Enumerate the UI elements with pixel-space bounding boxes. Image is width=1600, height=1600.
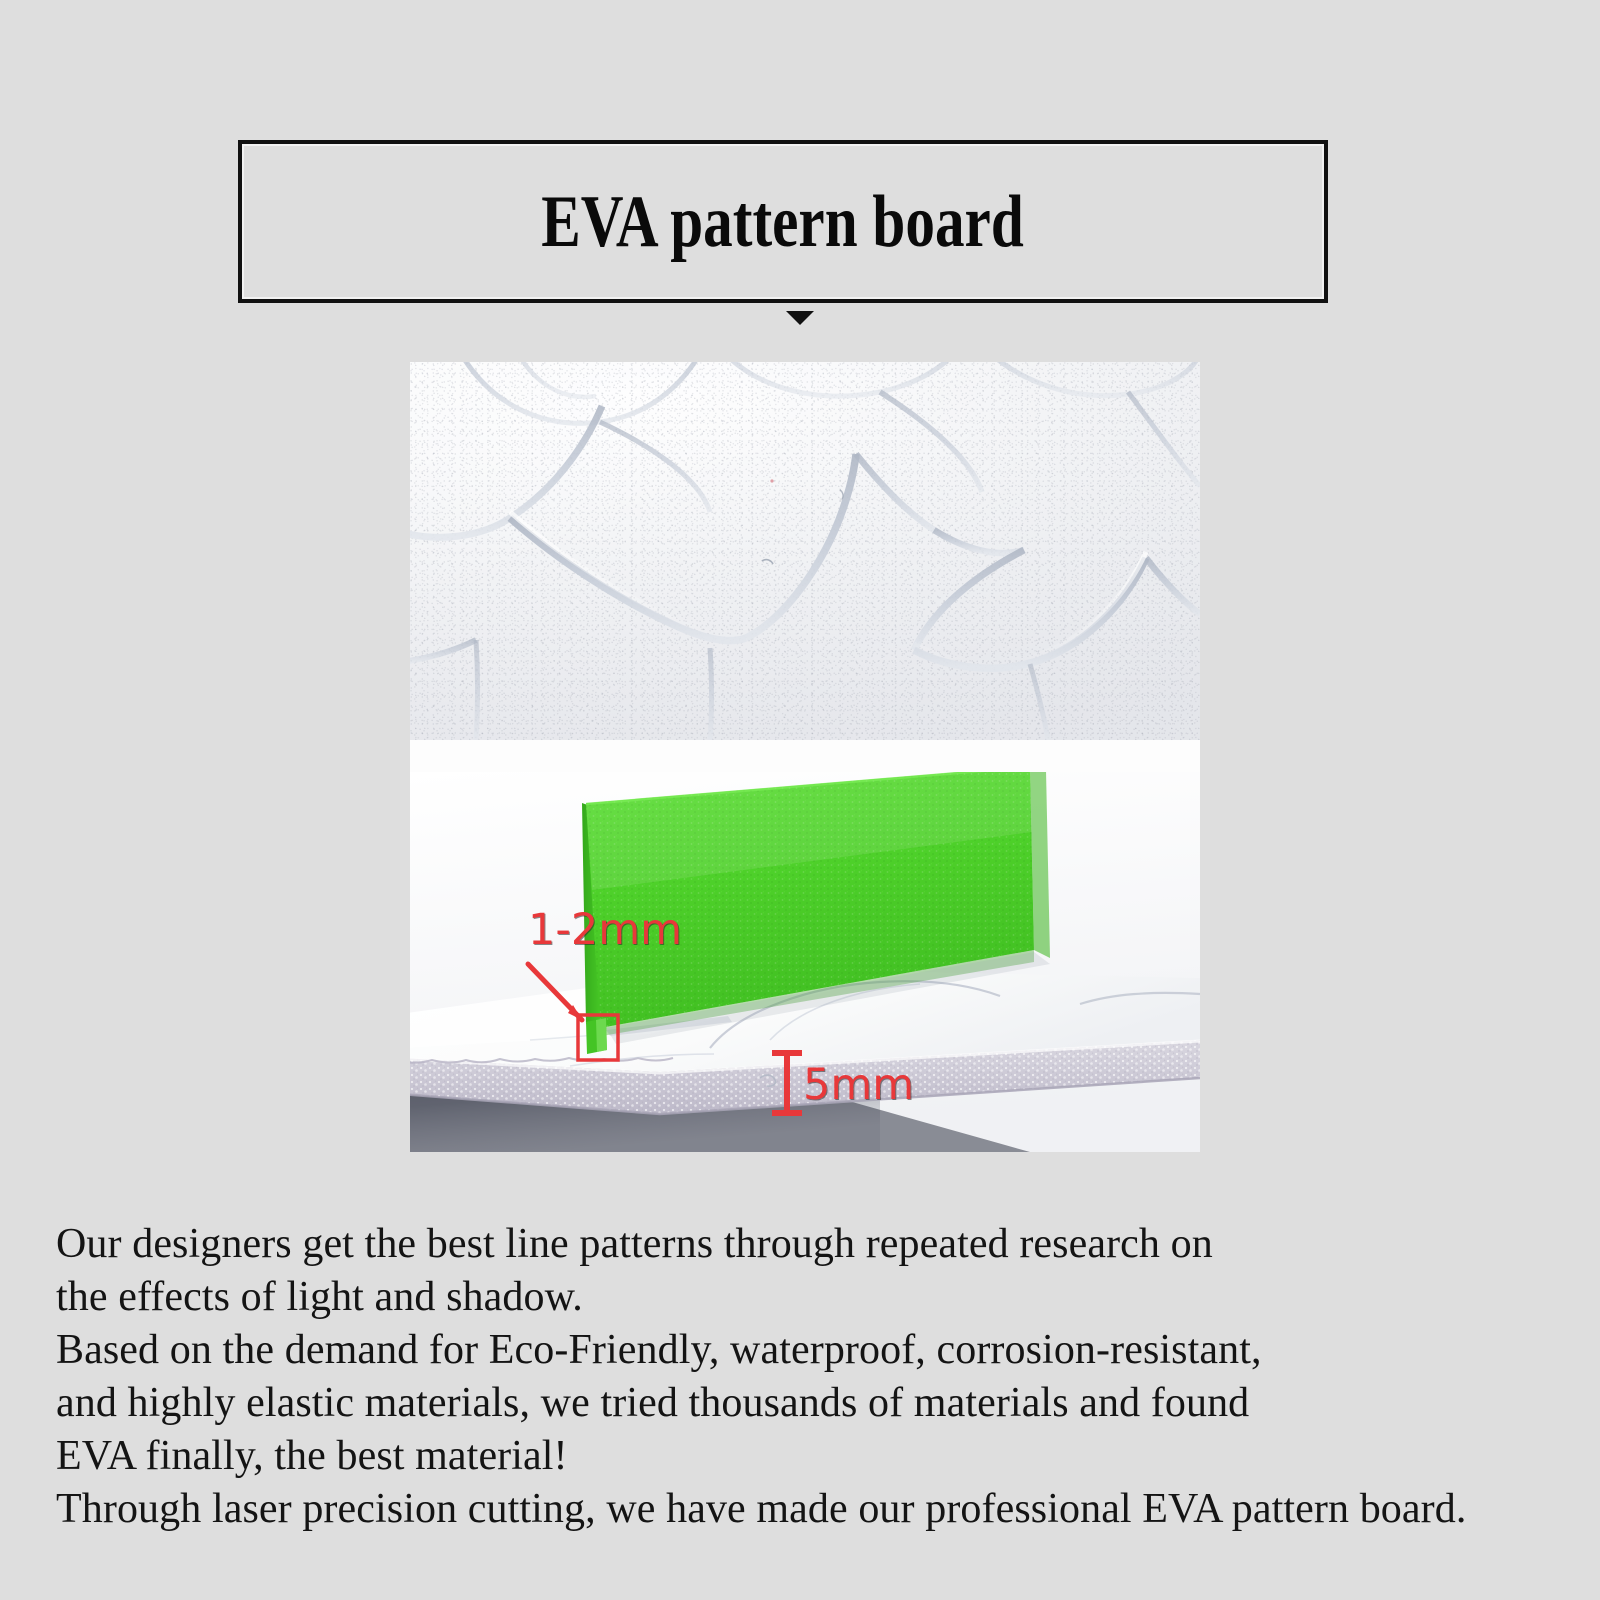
description-line: and highly elastic materials, we tried t… xyxy=(56,1377,1556,1430)
product-description: Our designers get the best line patterns… xyxy=(56,1218,1556,1536)
description-line: EVA finally, the best material! xyxy=(56,1430,1556,1483)
title-banner: EVA pattern board xyxy=(238,140,1328,303)
board-thickness-label: 5mm xyxy=(803,1064,914,1107)
eva-pattern-closeup-image xyxy=(410,362,1200,740)
description-line: Through laser precision cutting, we have… xyxy=(56,1483,1556,1536)
description-line: Our designers get the best line patterns… xyxy=(56,1218,1556,1271)
eva-thickness-diagram-image: 1-2mm 5mm xyxy=(410,772,1200,1152)
page-title: EVA pattern board xyxy=(542,185,1024,259)
description-line: Based on the demand for Eco-Friendly, wa… xyxy=(56,1324,1556,1377)
chevron-down-icon xyxy=(786,311,814,325)
image-separator-band xyxy=(410,740,1200,772)
scale-pattern-grooves xyxy=(410,362,1200,740)
product-image-gallery: 1-2mm 5mm xyxy=(410,362,1200,1152)
description-line: the effects of light and shadow. xyxy=(56,1271,1556,1324)
groove-width-label: 1-2mm xyxy=(528,909,682,952)
